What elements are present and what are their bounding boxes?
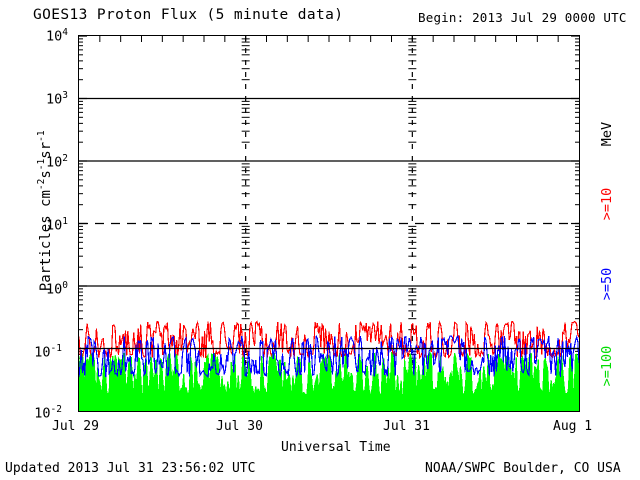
legend-ge50-mev: >=50 <box>599 244 615 324</box>
legend-ge100-mev: >=100 <box>599 321 615 411</box>
y-tick-label-1e0: 100 <box>24 280 68 298</box>
noaa-credit: NOAA/SWPC Boulder, CO USA <box>425 461 621 476</box>
flux-plot-svg <box>79 36 579 411</box>
x-tick-label-aug1: Aug 1 <box>553 419 592 434</box>
y-tick-label-1e2: 102 <box>24 153 68 171</box>
y-axis-label: Particles cm-2s-1sr-1 <box>36 81 54 341</box>
y-tick-label-1em1: 10-1 <box>18 343 62 361</box>
plot-area[interactable] <box>78 35 580 412</box>
page-title: GOES13 Proton Flux (5 minute data) <box>33 7 343 23</box>
plot-canvas <box>79 36 579 411</box>
legend-unit-mev: MeV <box>599 94 615 174</box>
legend-ge10-mev: >=10 <box>599 164 615 244</box>
begin-time-label: Begin: 2013 Jul 29 0000 UTC <box>418 10 627 25</box>
updated-timestamp: Updated 2013 Jul 31 23:56:02 UTC <box>5 461 255 476</box>
y-tick-label-1e4: 104 <box>24 27 68 45</box>
x-tick-label-jul30: Jul 30 <box>216 419 263 434</box>
y-tick-label-1e3: 103 <box>24 90 68 108</box>
y-tick-label-1e1: 101 <box>24 216 68 234</box>
x-axis-label: Universal Time <box>281 440 391 455</box>
x-tick-label-jul29: Jul 29 <box>52 419 99 434</box>
x-tick-label-jul31: Jul 31 <box>383 419 430 434</box>
